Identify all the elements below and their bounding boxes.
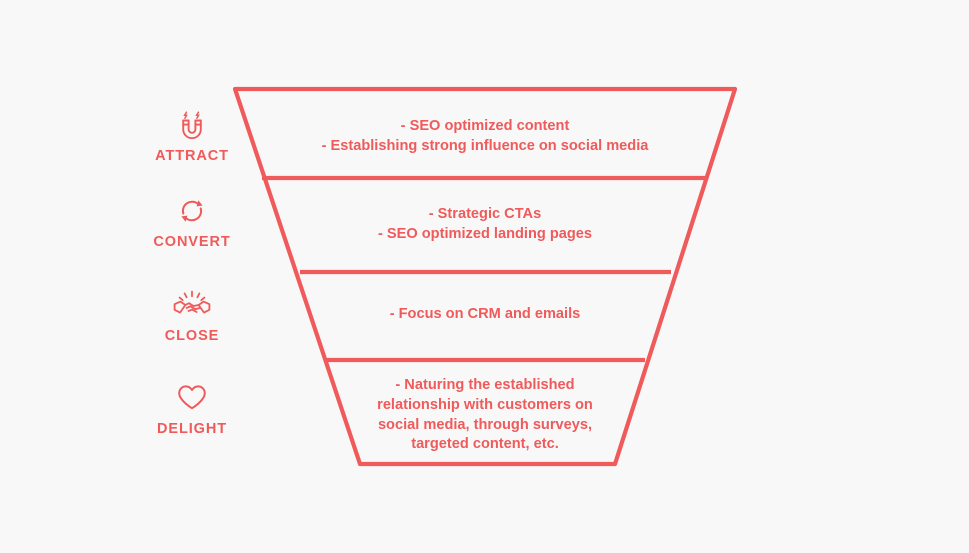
stage-content-close: - Focus on CRM and emails <box>235 305 735 325</box>
stage-label-text: CLOSE <box>117 329 267 344</box>
stage-content-attract: - SEO optimized content - Establishing s… <box>235 117 735 156</box>
funnel-shape <box>0 0 969 553</box>
stage-content-delight: - Naturing the established relationship … <box>235 376 735 455</box>
stage-content-convert: - Strategic CTAs - SEO optimized landing… <box>235 205 735 244</box>
funnel-diagram: ATTRACT - SEO optimized content - Establ… <box>0 0 969 553</box>
